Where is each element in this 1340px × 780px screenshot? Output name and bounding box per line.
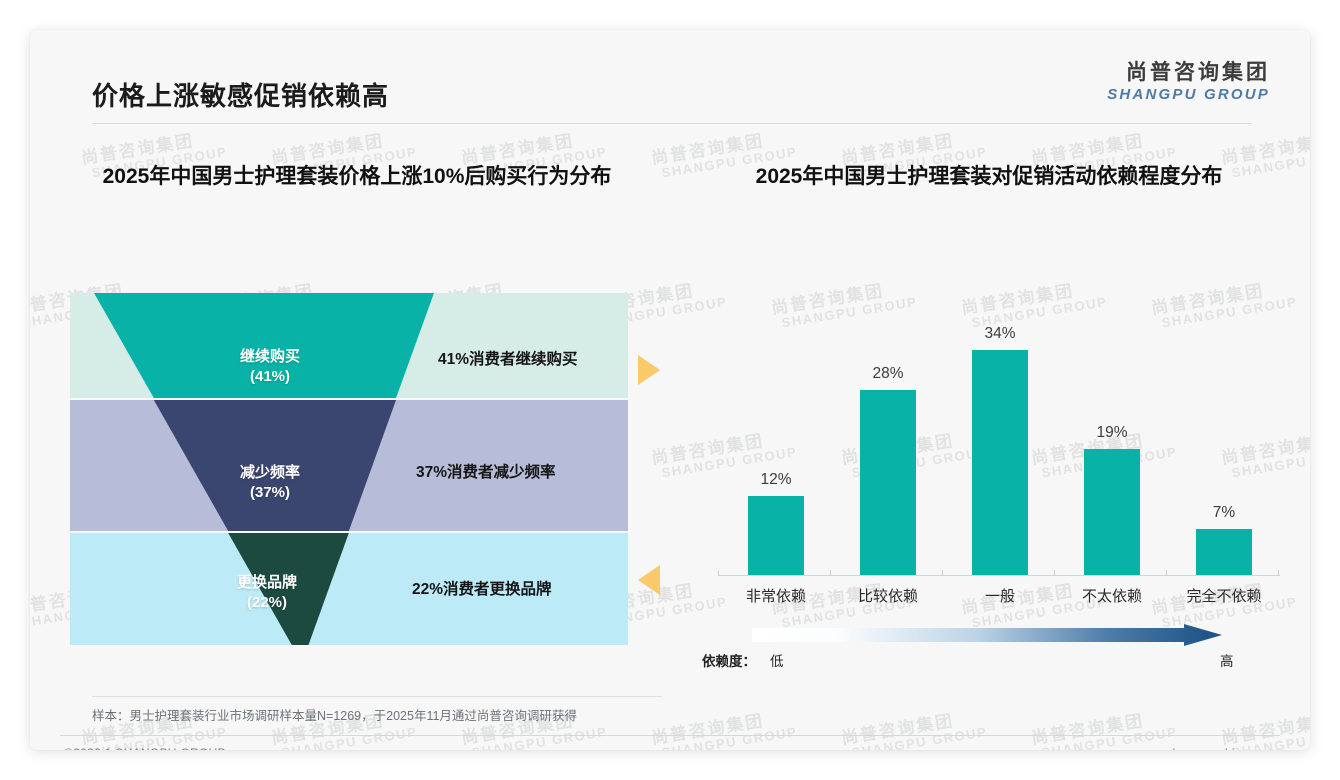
x-axis-label: 一般 xyxy=(944,585,1056,606)
funnel-panel-label-2: 22%消费者更换品牌 xyxy=(412,577,552,599)
arrow-right-icon xyxy=(638,355,660,385)
axis-tick xyxy=(942,570,943,576)
funnel-name-0: 继续购买 xyxy=(190,347,350,367)
footer-divider xyxy=(60,735,1280,736)
bar-value-label: 19% xyxy=(1096,424,1127,442)
funnel-value-1: (37%) xyxy=(190,483,350,503)
brand-name-en: SHANGPU GROUP xyxy=(1107,86,1270,104)
axis-tick xyxy=(830,570,831,576)
x-axis-label: 完全不依赖 xyxy=(1168,585,1280,606)
brand-name-cn: 尚普咨询集团 xyxy=(1107,60,1270,86)
watermark: 尚普咨询集团SHANGPU GROUP xyxy=(840,707,988,750)
bar-column[interactable]: 28% xyxy=(832,310,944,575)
bar-rect[interactable] xyxy=(1084,449,1140,575)
brand-logo: 尚普咨询集团 SHANGPU GROUP xyxy=(1107,60,1270,104)
watermark: 尚普咨询集团SHANGPU GROUP xyxy=(1030,707,1178,750)
footer-website: www.shangpu-china.com xyxy=(1136,746,1276,750)
x-axis-label: 比较依赖 xyxy=(832,585,944,606)
bar-value-label: 12% xyxy=(760,471,791,489)
bar-column[interactable]: 12% xyxy=(720,310,832,575)
dependency-scale-legend: 依赖度： 低 高 xyxy=(680,622,1300,682)
slide-card: 尚普咨询集团SHANGPU GROUP尚普咨询集团SHANGPU GROUP尚普… xyxy=(30,30,1310,750)
footnote-divider xyxy=(92,696,662,697)
left-chart-title: 2025年中国男士护理套装价格上涨10%后购买行为分布 xyxy=(48,163,666,191)
page-title: 价格上涨敏感促销依赖高 xyxy=(92,76,389,113)
bar-rect[interactable] xyxy=(972,350,1028,575)
funnel-segment-label-1: 减少频率(37%) xyxy=(190,463,350,504)
gradient-arrow xyxy=(752,624,1222,646)
bar-rect[interactable] xyxy=(1196,529,1252,575)
funnel-panel-label-0: 41%消费者继续购买 xyxy=(438,347,578,369)
bar-column[interactable]: 19% xyxy=(1056,310,1168,575)
footer-copyright: ©2026.1 SHANGPU GROUP xyxy=(64,746,226,750)
funnel-name-2: 更换品牌 xyxy=(192,573,342,593)
dependency-bar-chart: 12%28%34%19%7% 非常依赖比较依赖一般不太依赖完全不依赖 xyxy=(680,240,1300,660)
funnel-svg xyxy=(70,255,670,645)
funnel-segment-label-2: 更换品牌(22%) xyxy=(192,573,342,614)
bar-value-label: 34% xyxy=(984,325,1015,343)
arrow-left-icon xyxy=(638,565,660,595)
axis-tick xyxy=(1054,570,1055,576)
legend-caption: 依赖度： xyxy=(702,650,756,670)
header-divider xyxy=(92,123,1252,124)
bar-rect[interactable] xyxy=(860,390,916,576)
bar-value-label: 7% xyxy=(1213,504,1235,522)
watermark: 尚普咨询集团SHANGPU GROUP xyxy=(650,707,798,750)
bar-value-label: 28% xyxy=(872,365,903,383)
legend-low-label: 低 xyxy=(770,650,784,670)
funnel-name-1: 减少频率 xyxy=(190,463,350,483)
funnel-value-2: (22%) xyxy=(192,593,342,613)
bar-column[interactable]: 34% xyxy=(944,310,1056,575)
bar-chart-axis xyxy=(718,575,1280,576)
funnel-segment-label-0: 继续购买(41%) xyxy=(190,347,350,388)
axis-tick xyxy=(1166,570,1167,576)
funnel-value-0: (41%) xyxy=(190,367,350,387)
watermark: 尚普咨询集团SHANGPU GROUP xyxy=(1220,707,1310,750)
axis-tick xyxy=(1278,570,1279,576)
x-axis-label: 不太依赖 xyxy=(1056,585,1168,606)
axis-tick xyxy=(718,570,719,576)
x-axis-label: 非常依赖 xyxy=(720,585,832,606)
funnel-chart: 继续购买(41%) 减少频率(37%) 更换品牌(22%) 41%消费者继续购买… xyxy=(70,255,670,645)
bar-column[interactable]: 7% xyxy=(1168,310,1280,575)
bar-rect[interactable] xyxy=(748,496,804,576)
legend-high-label: 高 xyxy=(1220,650,1234,670)
slide-header: 价格上涨敏感促销依赖高 尚普咨询集团 SHANGPU GROUP xyxy=(30,30,1310,118)
footnote-text: 样本：男士护理套装行业市场调研样本量N=1269，于2025年11月通过尚普咨询… xyxy=(92,705,577,724)
right-chart-title: 2025年中国男士护理套装对促销活动依赖程度分布 xyxy=(680,163,1298,191)
funnel-panel-label-1: 37%消费者减少频率 xyxy=(416,460,556,482)
